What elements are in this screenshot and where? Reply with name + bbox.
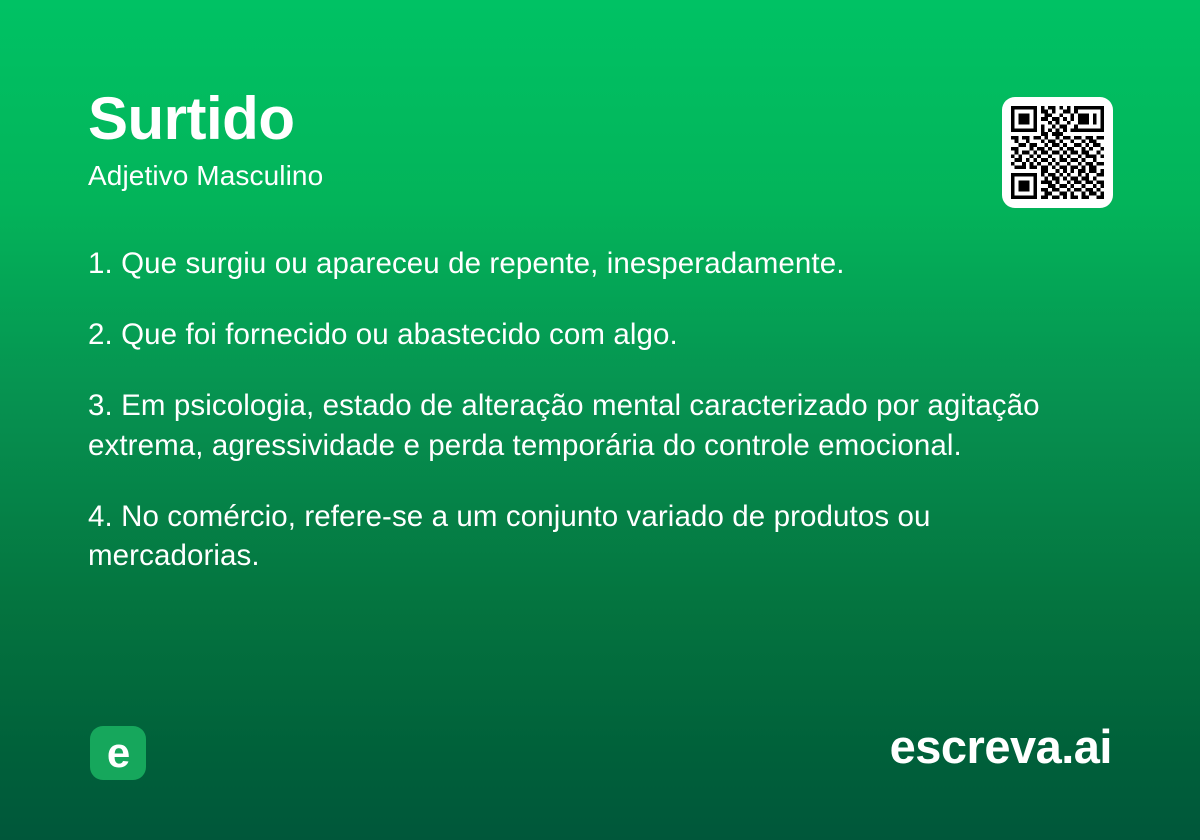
definition-list: 1. Que surgiu ou apareceu de repente, in…: [88, 244, 1108, 575]
brand-logo-letter: e: [90, 726, 146, 780]
card-header: Surtido Adjetivo Masculino: [88, 88, 968, 193]
list-item: 4. No comércio, refere-se a um conjunto …: [88, 497, 1108, 575]
qr-code-icon: [1011, 106, 1104, 199]
brand-wordmark: escreva.ai: [890, 723, 1112, 770]
page-title: Surtido: [88, 88, 968, 149]
list-item: 3. Em psicologia, estado de alteração me…: [88, 386, 1108, 464]
list-item: 2. Que foi fornecido ou abastecido com a…: [88, 315, 1108, 354]
qr-code-card[interactable]: [1002, 97, 1113, 208]
word-class-label: Adjetivo Masculino: [88, 159, 968, 193]
list-item: 1. Que surgiu ou apareceu de repente, in…: [88, 244, 1108, 283]
dictionary-card: Surtido Adjetivo Masculino 1. Que surgiu…: [0, 0, 1200, 840]
brand-logo-badge: e: [90, 726, 146, 780]
